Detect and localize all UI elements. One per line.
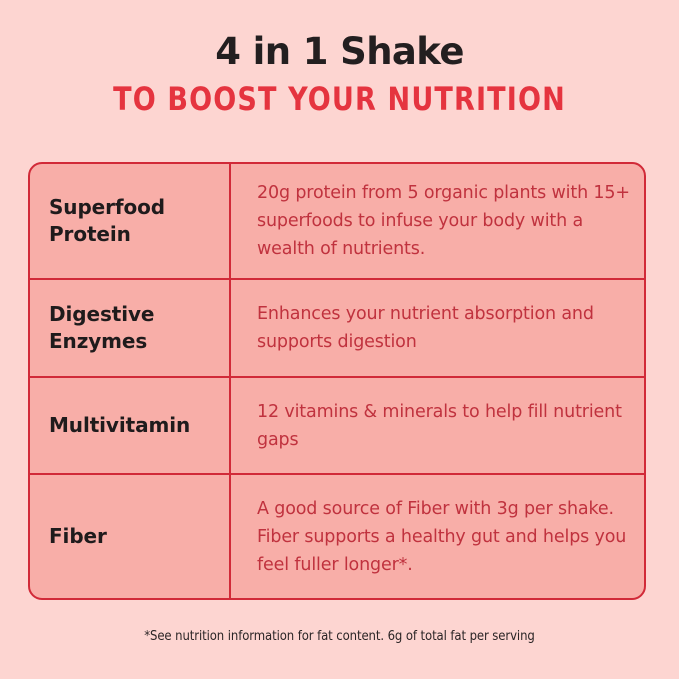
table-cell-label: Multivitamin xyxy=(30,378,231,473)
benefit-description: 12 vitamins & minerals to help fill nutr… xyxy=(257,398,630,454)
table-cell-description: 12 vitamins & minerals to help fill nutr… xyxy=(231,378,644,473)
table-row: Fiber A good source of Fiber with 3g per… xyxy=(30,475,644,598)
table-row: Multivitamin 12 vitamins & minerals to h… xyxy=(30,378,644,475)
benefit-name: Superfood Protein xyxy=(49,194,217,248)
table-cell-description: 20g protein from 5 organic plants with 1… xyxy=(231,164,644,278)
benefit-name: Digestive Enzymes xyxy=(49,301,217,355)
footnote: *See nutrition information for fat conte… xyxy=(0,628,679,646)
header: 4 in 1 Shake TO BOOST YOUR NUTRITION xyxy=(0,30,679,118)
page-title: 4 in 1 Shake xyxy=(0,30,679,74)
table-cell-label: Superfood Protein xyxy=(30,164,231,278)
table-cell-description: Enhances your nutrient absorption and su… xyxy=(231,280,644,376)
benefits-table: Superfood Protein 20g protein from 5 org… xyxy=(28,162,646,600)
table-cell-label: Digestive Enzymes xyxy=(30,280,231,376)
page-subtitle: TO BOOST YOUR NUTRITION xyxy=(20,80,658,118)
product-benefits-infographic: 4 in 1 Shake TO BOOST YOUR NUTRITION Sup… xyxy=(0,0,679,679)
benefit-name: Multivitamin xyxy=(49,412,190,439)
table-cell-label: Fiber xyxy=(30,475,231,598)
benefit-name: Fiber xyxy=(49,523,107,550)
table-row: Superfood Protein 20g protein from 5 org… xyxy=(30,164,644,280)
benefit-description: 20g protein from 5 organic plants with 1… xyxy=(257,179,630,263)
benefit-description: A good source of Fiber with 3g per shake… xyxy=(257,495,630,579)
table-row: Digestive Enzymes Enhances your nutrient… xyxy=(30,280,644,378)
benefit-description: Enhances your nutrient absorption and su… xyxy=(257,300,630,356)
table-cell-description: A good source of Fiber with 3g per shake… xyxy=(231,475,644,598)
